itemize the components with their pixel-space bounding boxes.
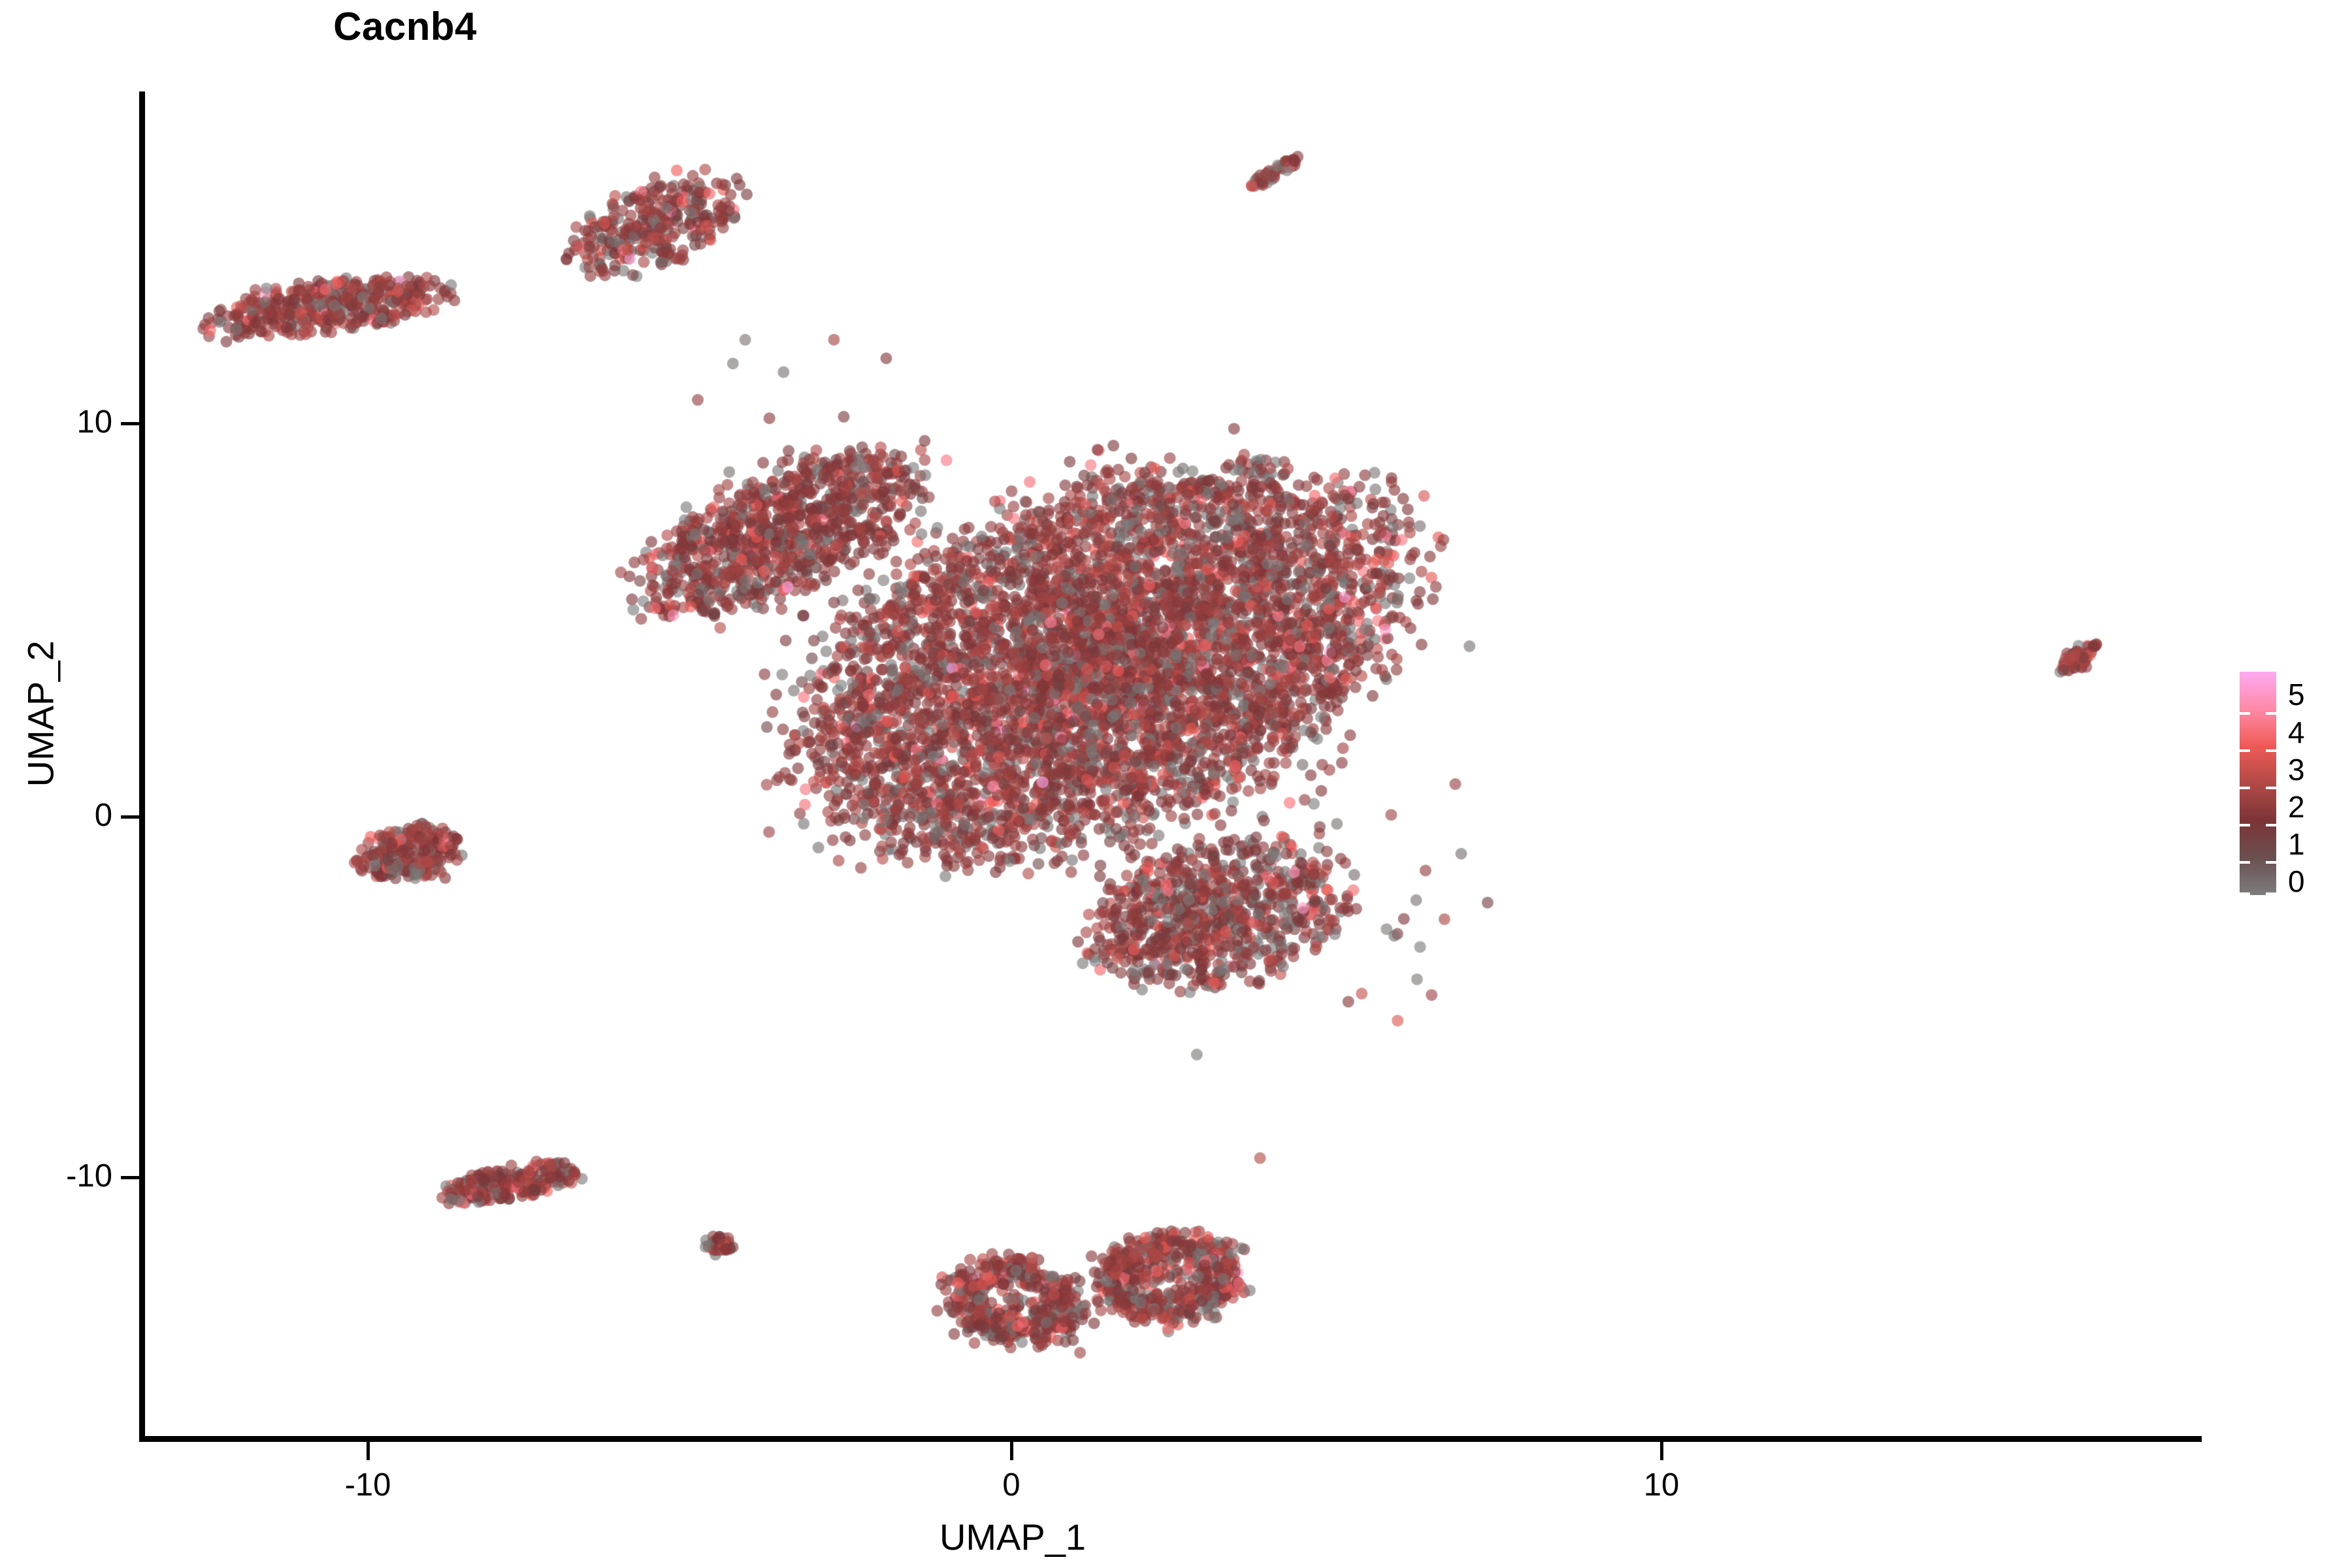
y-axis-label: UMAP_2 — [20, 577, 62, 851]
plot-panel — [144, 91, 2202, 1439]
x-tick-0 — [1010, 1442, 1013, 1460]
y-axis-line — [139, 91, 145, 1442]
colorbar-tick-3-left — [2240, 787, 2250, 789]
y-ticklabel-neg10: -10 — [14, 1158, 112, 1194]
colorbar-tick-0-left — [2240, 892, 2250, 895]
colorbar-label-3: 3 — [2288, 755, 2305, 785]
x-axis-label: UMAP_1 — [784, 1516, 1241, 1558]
colorbar-tick-2-right — [2266, 824, 2276, 826]
colorbar-tick-0-right — [2266, 892, 2276, 895]
colorbar-tick-4-right — [2266, 749, 2276, 752]
y-tick-0 — [121, 815, 139, 819]
colorbar-label-2: 2 — [2288, 792, 2305, 822]
scatter-canvas — [0, 0, 2352, 1568]
colorbar-tick-4-left — [2240, 749, 2250, 752]
x-axis-line — [139, 1436, 2202, 1442]
colorbar-tick-5-left — [2240, 712, 2250, 715]
colorbar-label-0: 0 — [2288, 866, 2305, 896]
colorbar-tick-5-right — [2266, 712, 2276, 715]
x-tick-10 — [1660, 1442, 1663, 1460]
y-ticklabel-10: 10 — [14, 404, 112, 440]
colorbar-tick-1-right — [2266, 861, 2276, 864]
colorbar-label-5: 5 — [2288, 679, 2305, 710]
colorbar-tick-2-left — [2240, 824, 2250, 826]
colorbar-tick-3-right — [2266, 787, 2276, 789]
colorbar-label-4: 4 — [2288, 717, 2305, 747]
x-tick-neg10 — [367, 1442, 370, 1460]
umap-feature-plot: Cacnb4 10 0 -10 -10 0 10 UMAP_2 UMAP_1 5… — [0, 0, 2352, 1568]
y-tick-neg10 — [121, 1176, 139, 1179]
colorbar-tick-1-left — [2240, 861, 2250, 864]
x-ticklabel-10: 10 — [1590, 1467, 1733, 1503]
colorbar-label-1: 1 — [2288, 829, 2305, 859]
y-tick-10 — [121, 422, 139, 425]
x-ticklabel-neg10: -10 — [296, 1467, 440, 1503]
x-ticklabel-0: 0 — [939, 1467, 1083, 1503]
colorbar-legend — [2240, 672, 2276, 895]
